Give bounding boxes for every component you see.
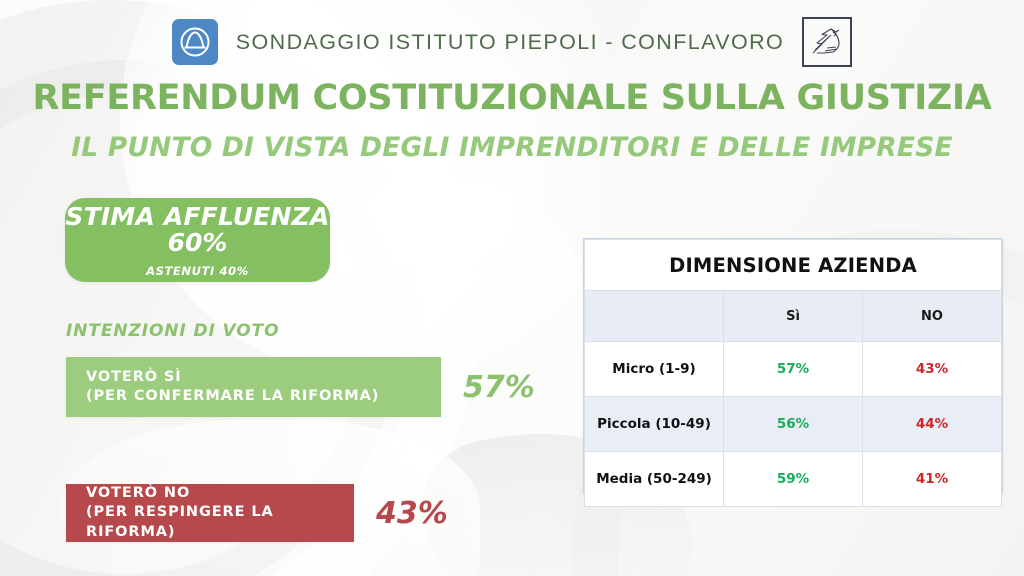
vote-bar-no-text: VOTERÒ NO (PER RESPINGERE LA RIFORMA) — [66, 484, 354, 541]
table-row: Piccola (10-49) 56% 44% — [585, 397, 1002, 452]
vote-row-si: VOTERÒ SÌ (PER CONFERMARE LA RIFORMA) 57… — [66, 357, 535, 417]
vote-row-no: VOTERÒ NO (PER RESPINGERE LA RIFORMA) 43… — [66, 484, 448, 542]
affluenza-label: STIMA AFFLUENZA — [65, 203, 329, 230]
table-cell-no: 43% — [863, 342, 1002, 397]
table-cell-si: 57% — [724, 342, 863, 397]
table-cell-category: Media (50-249) — [585, 452, 724, 507]
table-title: DIMENSIONE AZIENDA — [585, 240, 1002, 291]
table-header-category — [585, 291, 724, 342]
table-header-no: NO — [863, 291, 1002, 342]
vote-bar-si: VOTERÒ SÌ (PER CONFERMARE LA RIFORMA) — [66, 357, 441, 417]
vote-bar-si-line1: VOTERÒ SÌ — [86, 368, 379, 387]
vote-pct-no: 43% — [376, 496, 448, 531]
conflavoro-eagle-logo-icon — [802, 17, 852, 67]
affluenza-value: 60% — [168, 230, 228, 255]
page-title: REFERENDUM COSTITUZIONALE SULLA GIUSTIZI… — [0, 78, 1024, 118]
table-cell-category: Micro (1-9) — [585, 342, 724, 397]
vote-bar-no-line2: (PER RESPINGERE LA RIFORMA) — [86, 503, 354, 541]
affluenza-astenuti: ASTENUTI 40% — [146, 264, 249, 278]
table-header-si: Sì — [724, 291, 863, 342]
vote-bar-si-text: VOTERÒ SÌ (PER CONFERMARE LA RIFORMA) — [66, 368, 379, 406]
table-cell-si: 56% — [724, 397, 863, 452]
table-cell-si: 59% — [724, 452, 863, 507]
intenzioni-di-voto-label: INTENZIONI DI VOTO — [66, 321, 279, 341]
vote-bar-si-line2: (PER CONFERMARE LA RIFORMA) — [86, 387, 379, 406]
piepoli-logo-icon — [172, 19, 218, 65]
table-cell-no: 41% — [863, 452, 1002, 507]
affluenza-card: STIMA AFFLUENZA 60% ASTENUTI 40% — [65, 198, 330, 282]
dimensione-azienda-table: DIMENSIONE AZIENDA Sì NO Micro (1-9) 57%… — [584, 239, 1002, 507]
vote-bar-no: VOTERÒ NO (PER RESPINGERE LA RIFORMA) — [66, 484, 354, 542]
table-cell-no: 44% — [863, 397, 1002, 452]
slide-root: SONDAGGIO ISTITUTO PIEPOLI - CONFLAVORO … — [0, 0, 1024, 576]
header-bar: SONDAGGIO ISTITUTO PIEPOLI - CONFLAVORO — [0, 12, 1024, 72]
page-subtitle: IL PUNTO DI VISTA DEGLI IMPRENDITORI E D… — [0, 132, 1024, 163]
table-title-row: DIMENSIONE AZIENDA — [585, 240, 1002, 291]
header-title: SONDAGGIO ISTITUTO PIEPOLI - CONFLAVORO — [236, 30, 784, 55]
dimensione-azienda-table-wrapper: DIMENSIONE AZIENDA Sì NO Micro (1-9) 57%… — [583, 238, 1003, 494]
table-header-row: Sì NO — [585, 291, 1002, 342]
vote-bar-no-line1: VOTERÒ NO — [86, 484, 354, 503]
table-row: Media (50-249) 59% 41% — [585, 452, 1002, 507]
table-cell-category: Piccola (10-49) — [585, 397, 724, 452]
table-row: Micro (1-9) 57% 43% — [585, 342, 1002, 397]
vote-pct-si: 57% — [463, 370, 535, 405]
